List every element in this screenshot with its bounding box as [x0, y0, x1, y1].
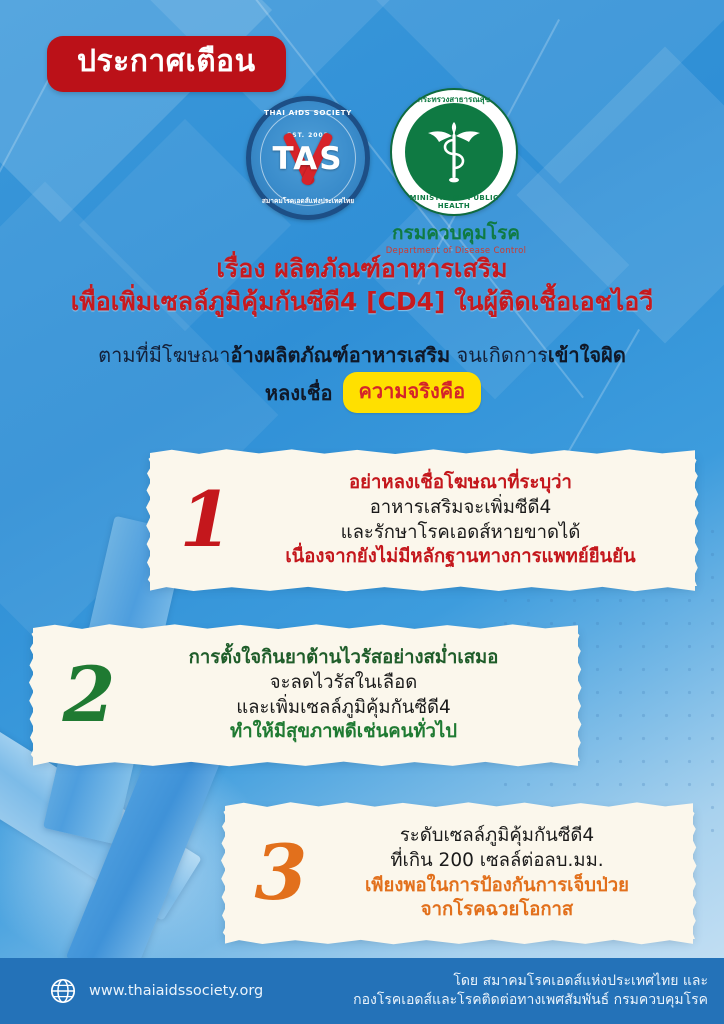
- dept-disease-control-label: กรมควบคุมโรค Department of Disease Contr…: [336, 222, 576, 256]
- card-line: เนื่องจากยังไม่มีหลักฐานทางการแพทย์ยืนยั…: [244, 545, 677, 570]
- poster-root: ประกาศเตือน THAI AIDS SOCIETY EST. 2003 …: [0, 0, 724, 1024]
- credit-line-2: กองโรคเอดส์และโรคติดต่อทางเพศสัมพันธ์ กร…: [353, 991, 708, 1010]
- card-line: อาหารเสริมจะเพิ่มซีดี4: [244, 496, 677, 521]
- moph-top-text: กระทรวงสาธารณสุข: [392, 93, 516, 106]
- headline-line-2: เพื่อเพิ่มเซลล์ภูมิคุ้มกันซีดี4 [CD4] ใน…: [0, 285, 724, 319]
- card-torn-edge-left: [26, 630, 36, 761]
- card-text-block: การตั้งใจกินยาต้านไวรัสอย่างสม่ำเสมอ จะล…: [127, 646, 560, 745]
- subheading-bold-2: เข้าใจผิด: [548, 343, 626, 367]
- globe-icon: [50, 978, 76, 1004]
- moph-bottom-text: MINISTRY OF PUBLIC HEALTH: [392, 194, 516, 210]
- card-line: ทำให้มีสุขภาพดีเช่นคนทั่วไป: [127, 720, 560, 745]
- headline: เรื่อง ผลิตภัณฑ์อาหารเสริม เพื่อเพิ่มเซล…: [0, 252, 724, 319]
- tas-top-text: THAI AIDS SOCIETY: [251, 108, 365, 117]
- card-line: เพียงพอในการป้องกันการเจ็บป่วย: [319, 874, 675, 899]
- thai-aids-society-logo: THAI AIDS SOCIETY EST. 2003 TAS สมาคมโรค…: [246, 96, 370, 220]
- card-torn-edge-left: [218, 808, 228, 939]
- subheading-bold-1: อ้างผลิตภัณฑ์อาหารเสริม: [230, 343, 450, 367]
- caduceus-icon: [423, 120, 485, 184]
- subheading-text-part1: ตามที่มีโฆษณา: [98, 343, 230, 367]
- subheading-line-1: ตามที่มีโฆษณาอ้างผลิตภัณฑ์อาหารเสริม จนเ…: [0, 340, 724, 370]
- truth-pill-badge: ความจริงคือ: [343, 372, 482, 413]
- card-torn-edge-right: [692, 455, 702, 586]
- card-text-block: อย่าหลงเชื่อโฆษณาที่ระบุว่า อาหารเสริมจะ…: [244, 471, 677, 570]
- card-line: ที่เกิน 200 เซลล์ต่อลบ.มม.: [319, 849, 675, 874]
- fact-card-3: 3 ระดับเซลล์ภูมิคุ้มกันซีดี4 ที่เกิน 200…: [225, 808, 693, 939]
- website-url-text: www.thaiaidssociety.org: [89, 983, 263, 999]
- card-torn-edge-left: [143, 455, 153, 586]
- tas-abbreviation: TAS: [251, 141, 365, 177]
- card-line: การตั้งใจกินยาต้านไวรัสอย่างสม่ำเสมอ: [127, 646, 560, 671]
- card-text-block: ระดับเซลล์ภูมิคุ้มกันซีดี4 ที่เกิน 200 เ…: [319, 824, 675, 923]
- ministry-of-public-health-logo: กระทรวงสาธารณสุข MINISTRY OF PUBLIC HEAL…: [390, 88, 518, 216]
- card-line: จากโรคฉวยโอกาส: [319, 898, 675, 923]
- footer-credit: โดย สมาคมโรคเอดส์แห่งประเทศไทย และ กองโร…: [353, 972, 708, 1010]
- website-link[interactable]: www.thaiaidssociety.org: [50, 978, 263, 1004]
- logo-group: THAI AIDS SOCIETY EST. 2003 TAS สมาคมโรค…: [238, 88, 538, 238]
- tas-bottom-text: สมาคมโรคเอดส์แห่งประเทศไทย: [251, 195, 365, 206]
- card-torn-edge-right: [575, 630, 585, 761]
- card-line: ระดับเซลล์ภูมิคุ้มกันซีดี4: [319, 824, 675, 849]
- card-line: และเพิ่มเซลล์ภูมิคุ้มกันซีดี4: [127, 696, 560, 721]
- credit-line-1: โดย สมาคมโรคเอดส์แห่งประเทศไทย และ: [353, 972, 708, 991]
- card-number: 3: [243, 843, 319, 904]
- fact-card-2: 2 การตั้งใจกินยาต้านไวรัสอย่างสม่ำเสมอ จ…: [33, 630, 578, 761]
- alert-badge: ประกาศเตือน: [47, 36, 286, 92]
- subheading-text-part2: จนเกิดการ: [450, 343, 548, 367]
- headline-line-1: เรื่อง ผลิตภัณฑ์อาหารเสริม: [0, 252, 724, 285]
- card-line: อย่าหลงเชื่อโฆษณาที่ระบุว่า: [244, 471, 677, 496]
- card-torn-edge-right: [690, 808, 700, 939]
- subheading-lead: หลงเชื่อ: [265, 377, 333, 409]
- dept-label-thai: กรมควบคุมโรค: [336, 222, 576, 245]
- card-number: 2: [51, 665, 127, 726]
- card-line: และรักษาโรคเอดส์หายขาดได้: [244, 521, 677, 546]
- footer-bar: www.thaiaidssociety.org โดย สมาคมโรคเอดส…: [0, 958, 724, 1024]
- fact-card-1: 1 อย่าหลงเชื่อโฆษณาที่ระบุว่า อาหารเสริม…: [150, 455, 695, 586]
- card-number: 1: [168, 490, 244, 551]
- bg-triangle: [0, 0, 272, 222]
- subheading-line-2: หลงเชื่อ ความจริงคือ: [0, 372, 724, 413]
- card-line: จะลดไวรัสในเลือด: [127, 671, 560, 696]
